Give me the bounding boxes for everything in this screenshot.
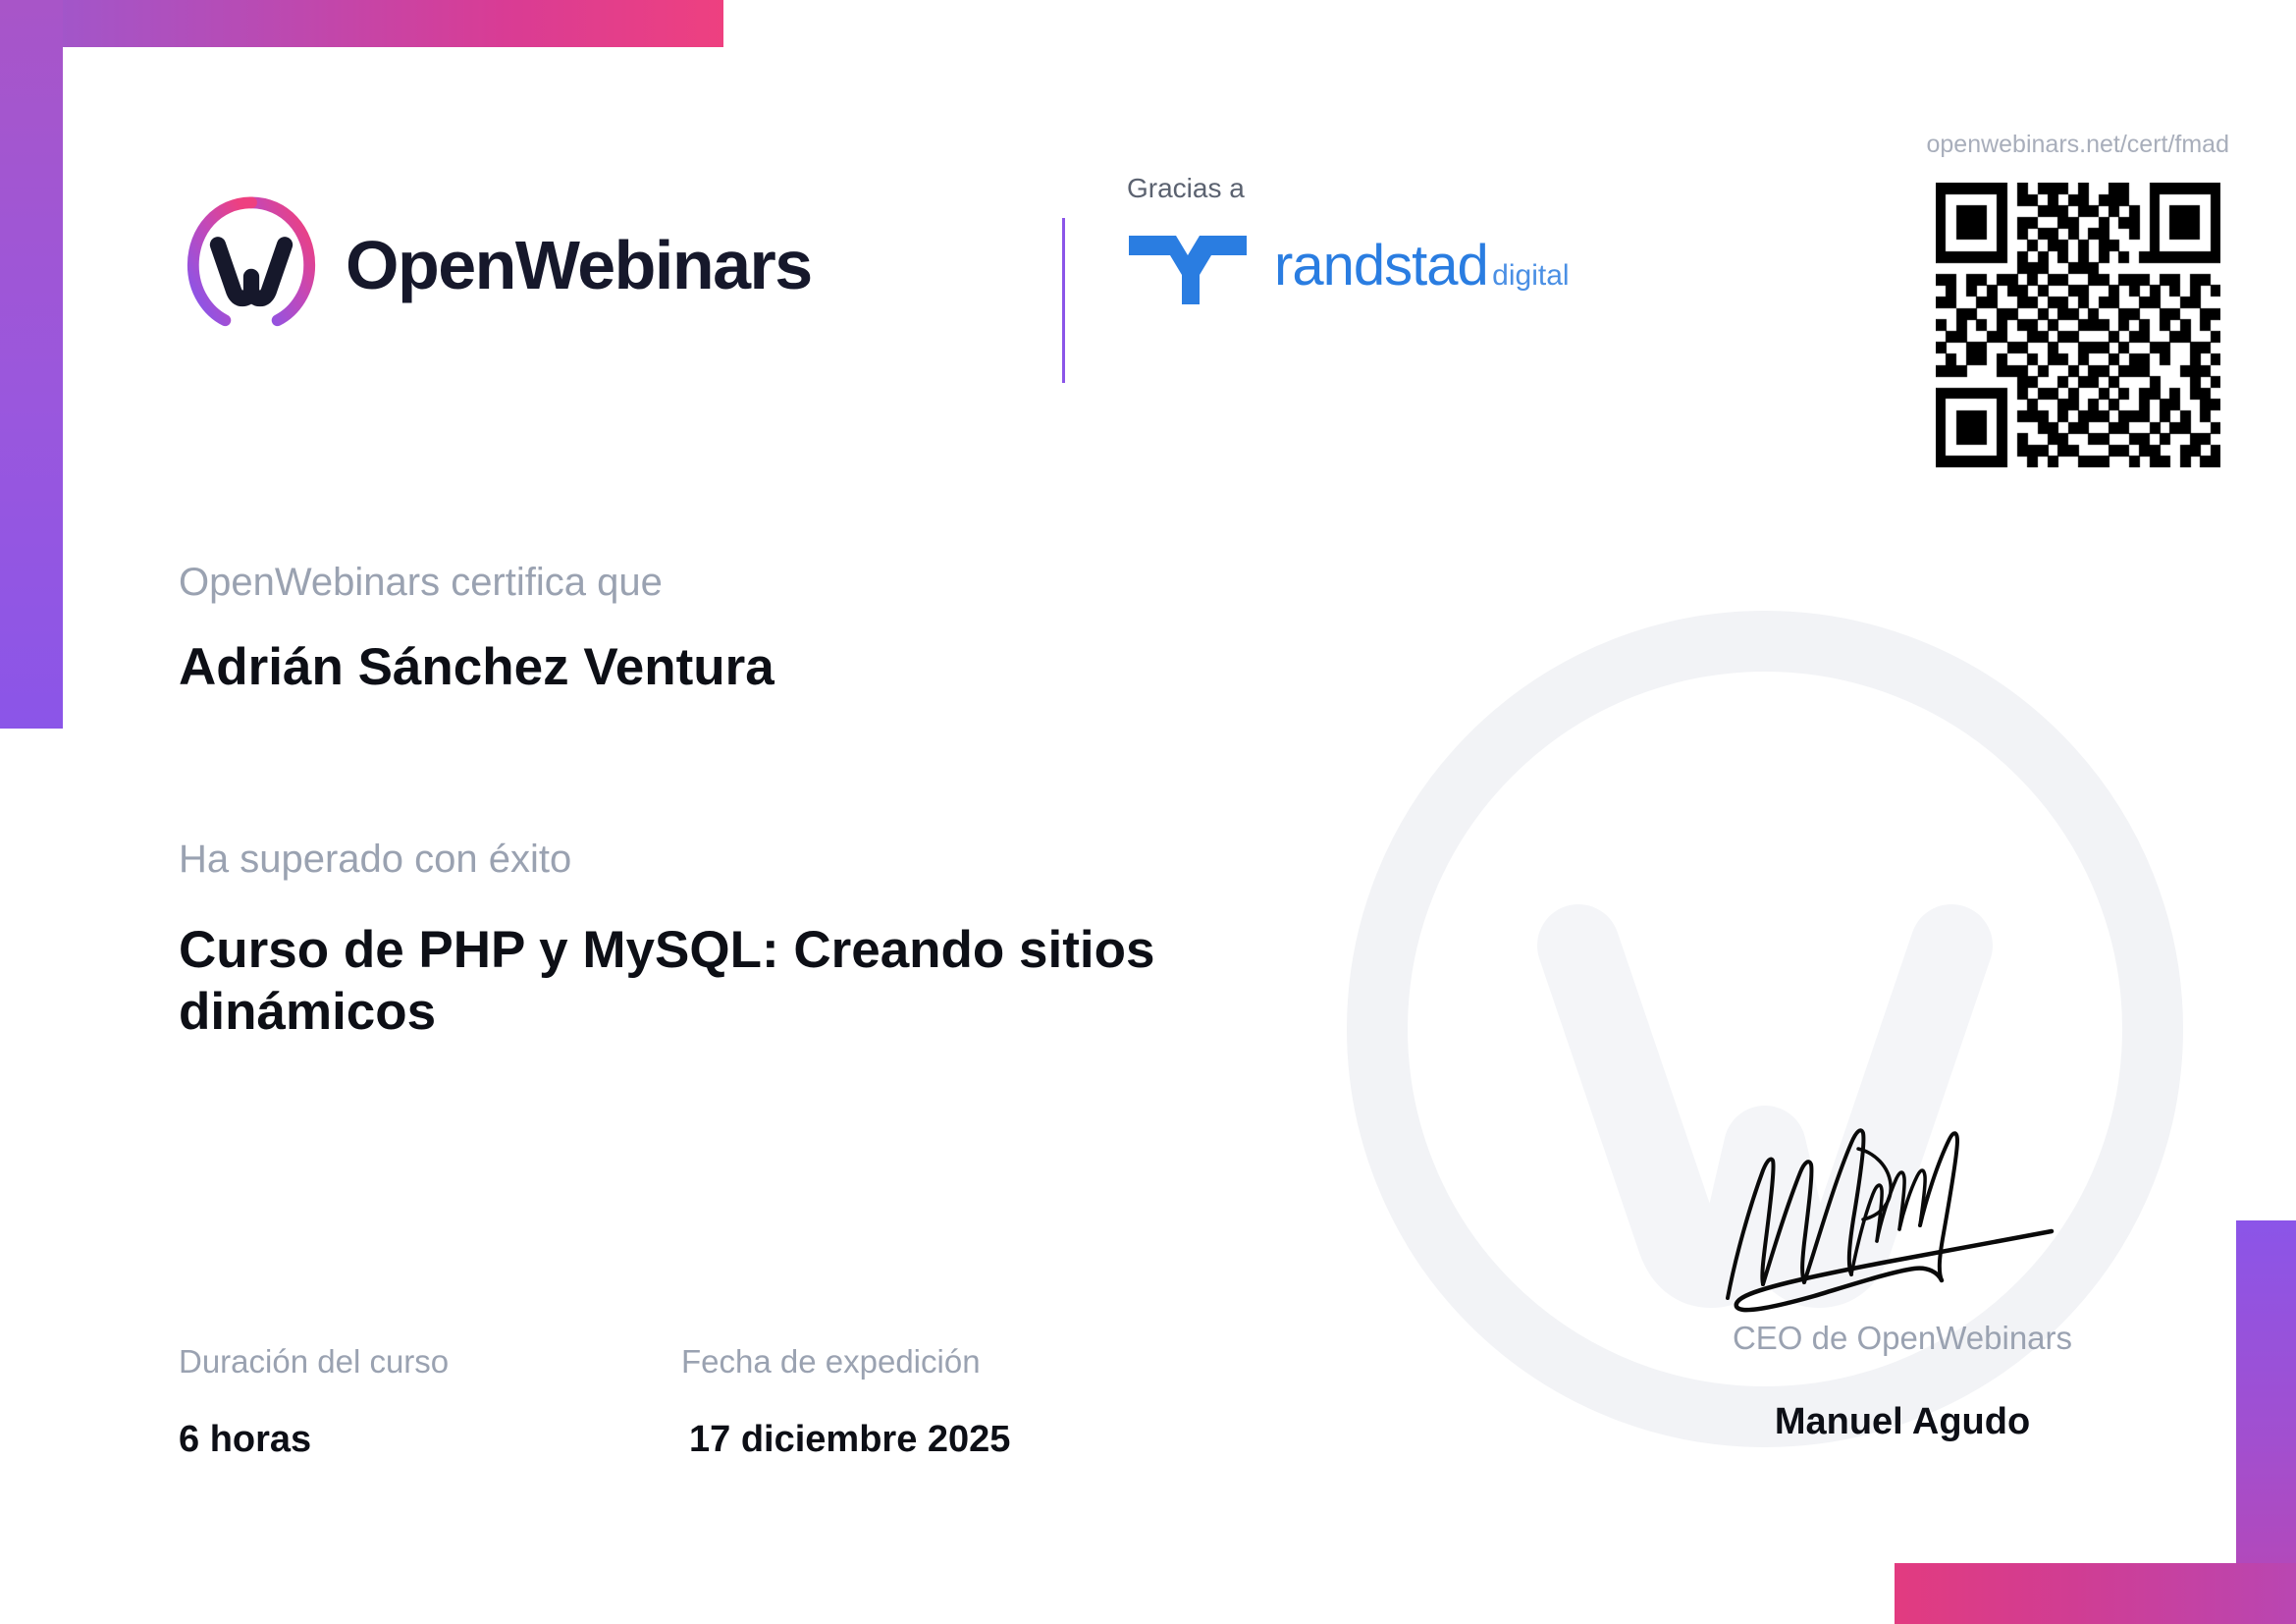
- header-divider: [1062, 218, 1065, 383]
- issue-date-field: Fecha de expedición 17 diciembre 2025: [681, 1345, 1010, 1458]
- certificate-metadata: Duración del curso 6 horas Fecha de expe…: [179, 1345, 1010, 1458]
- qr-code-icon[interactable]: [1936, 183, 2220, 467]
- recipient-name: Adrián Sánchez Ventura: [179, 637, 774, 699]
- signature-role: CEO de OpenWebinars: [1686, 1322, 2118, 1354]
- openwebinars-w-circle-icon: [179, 192, 324, 338]
- recipient-label: OpenWebinars certifica que: [179, 563, 774, 602]
- course-section: Ha superado con éxito Curso de PHP y MyS…: [179, 839, 1278, 1043]
- course-label: Ha superado con éxito: [179, 839, 1278, 879]
- issue-date-label: Fecha de expedición: [681, 1345, 1010, 1378]
- openwebinars-logo: OpenWebinars: [179, 192, 812, 338]
- randstad-logo: randstad digital: [1127, 224, 1570, 308]
- randstad-arrow-icon: [1127, 224, 1249, 308]
- randstad-wordmark: randstad: [1274, 234, 1488, 298]
- duration-label: Duración del curso: [179, 1345, 681, 1378]
- duration-field: Duración del curso 6 horas: [179, 1345, 681, 1458]
- verification-url: openwebinars.net/cert/fmad: [1926, 133, 2229, 157]
- certificate-page: OpenWebinars Gracias a randstad digital …: [0, 0, 2296, 1624]
- handwritten-signature-icon: [1706, 1110, 2099, 1316]
- randstad-subtitle: digital: [1492, 259, 1569, 292]
- issue-date-value: 17 diciembre 2025: [681, 1421, 1010, 1458]
- certificate-header: OpenWebinars Gracias a randstad digital …: [0, 0, 2296, 412]
- verification-block: openwebinars.net/cert/fmad: [1926, 133, 2229, 467]
- signature-section: CEO de OpenWebinars Manuel Agudo: [1686, 1110, 2118, 1440]
- sponsor-section: Gracias a randstad digital: [1127, 175, 1570, 308]
- course-title: Curso de PHP y MySQL: Creando sitios din…: [179, 920, 1278, 1043]
- recipient-section: OpenWebinars certifica que Adrián Sánche…: [179, 563, 774, 699]
- corner-decoration-bottom-right-horizontal: [1895, 1563, 2296, 1624]
- duration-value: 6 horas: [179, 1421, 681, 1458]
- sponsor-label: Gracias a: [1127, 175, 1570, 202]
- signature-name: Manuel Agudo: [1686, 1403, 2118, 1440]
- openwebinars-wordmark: OpenWebinars: [346, 231, 812, 299]
